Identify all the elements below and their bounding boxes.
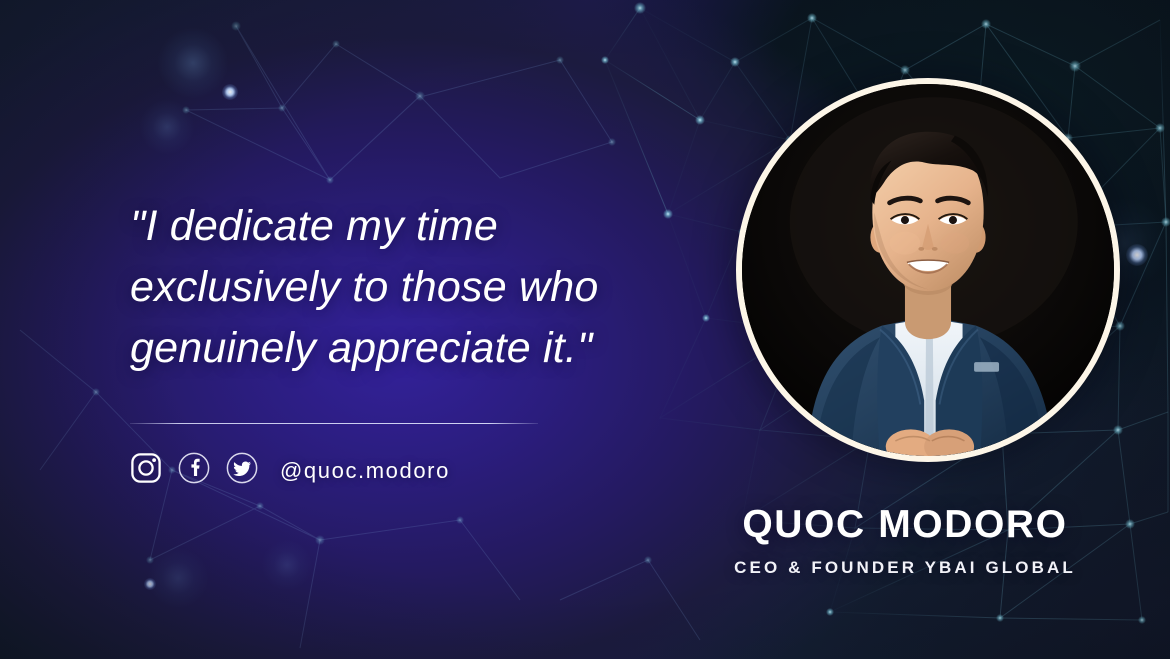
instagram-icon[interactable] <box>130 452 162 489</box>
social-handle: @quoc.modoro <box>280 458 450 484</box>
social-bar: @quoc.modoro <box>130 452 660 489</box>
quote-card: "I dedicate my time exclusively to those… <box>0 0 1170 659</box>
quote-block: "I dedicate my time exclusively to those… <box>130 196 660 489</box>
quote-text: "I dedicate my time exclusively to those… <box>130 196 660 379</box>
divider-line <box>130 423 538 424</box>
facebook-icon[interactable] <box>178 452 210 489</box>
avatar <box>736 78 1120 462</box>
person-role: CEO & FOUNDER YBAI GLOBAL <box>640 558 1170 578</box>
person-name: QUOC MODORO <box>640 503 1170 547</box>
portrait-photo <box>736 78 1120 462</box>
twitter-icon[interactable] <box>226 452 258 489</box>
